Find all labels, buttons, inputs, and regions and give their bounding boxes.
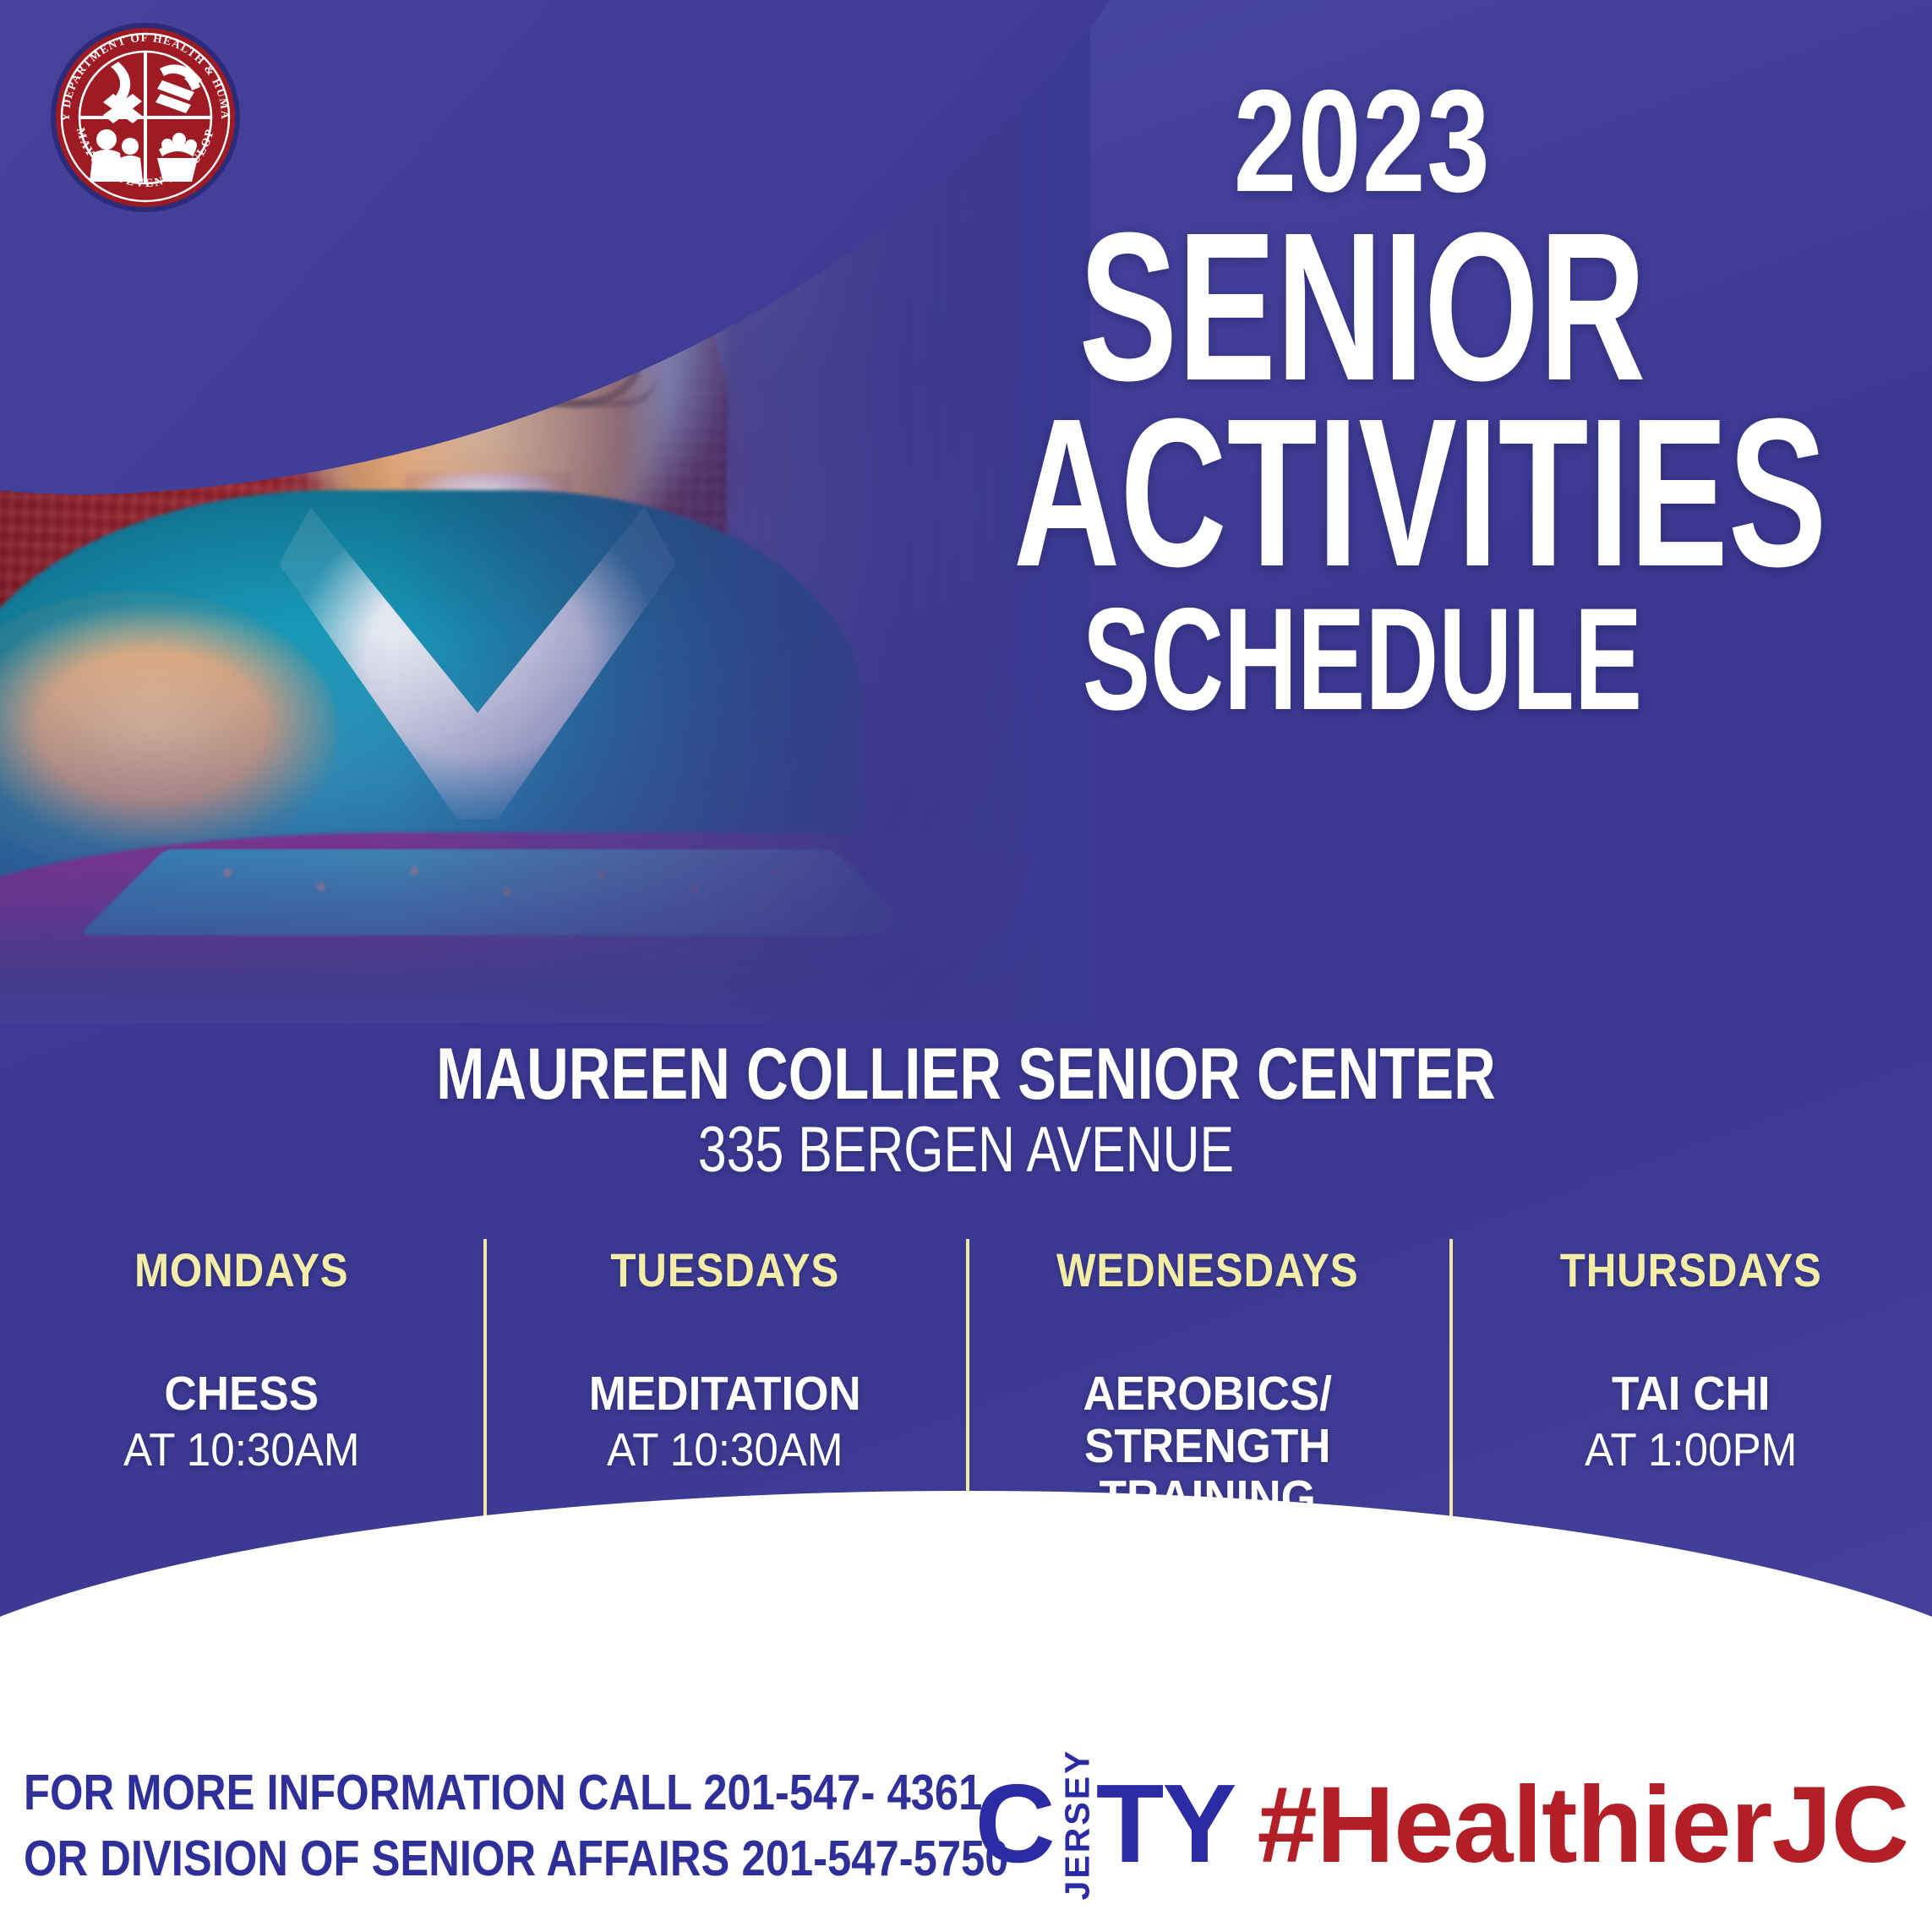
headline-block: 2023 SENIOR ACTIVITIES SCHEDULE: [864, 73, 1861, 729]
headline-line-activities: ACTIVITIES: [1013, 400, 1711, 586]
activity-item: CHESS AT 10:30AM: [15, 1368, 468, 1476]
activity-item: TAI CHI AT 1:00PM: [1465, 1368, 1918, 1476]
day-header-wednesdays: WEDNESDAYS: [1008, 1242, 1406, 1297]
activity-name: MEDITATION: [514, 1368, 935, 1421]
day-header-tuesdays: TUESDAYS: [526, 1242, 924, 1297]
headline-line-senior: SENIOR: [1013, 214, 1711, 400]
activity-name: CHESS: [31, 1368, 452, 1421]
footer-block: FOR MORE INFORMATION CALL 201-547- 4361 …: [0, 1721, 1932, 1932]
healthier-jc-hashtag: #HealthierJC: [1257, 1771, 1908, 1880]
venue-name: MAUREEN COLLIER SENIOR CENTER: [194, 1038, 1739, 1112]
logo-jersey-vertical: JERSEY: [1054, 1768, 1101, 1880]
activity-time: AT 1:00PM: [1480, 1424, 1901, 1476]
headline-line-schedule: SCHEDULE: [1013, 591, 1711, 729]
logo-jersey-text: JERSEY: [1060, 1748, 1094, 1900]
jersey-city-wordmark: C JERSEY TY: [974, 1768, 1235, 1880]
activity-time: AT 10:30AM: [514, 1424, 935, 1476]
contact-line-2: OR DIVISION OF SENIOR AFFAIRS 201-547-57…: [24, 1826, 1008, 1892]
activity-item: MEDITATION AT 10:30AM: [499, 1368, 952, 1476]
contact-info: FOR MORE INFORMATION CALL 201-547- 4361 …: [24, 1760, 1008, 1892]
logo-letters-ty: TY: [1096, 1768, 1236, 1880]
logo-letter-c: C: [974, 1768, 1053, 1880]
contact-line-1: FOR MORE INFORMATION CALL 201-547- 4361: [24, 1760, 1008, 1826]
activity-time: AT 10:30AM: [31, 1424, 452, 1476]
flyer-canvas: JERSEY CITY DEPARTMENT OF HEALTH & HUMAN…: [0, 0, 1932, 1932]
day-header-mondays: MONDAYS: [42, 1242, 440, 1297]
jersey-city-dhhs-seal: JERSEY CITY DEPARTMENT OF HEALTH & HUMAN…: [49, 21, 242, 214]
day-header-thursdays: THURSDAYS: [1492, 1242, 1890, 1297]
jersey-city-healthier-logo: C JERSEY TY #HealthierJC: [974, 1768, 1908, 1880]
venue-address: 335 BERGEN AVENUE: [194, 1116, 1739, 1185]
activity-name: TAI CHI: [1480, 1368, 1901, 1421]
venue-block: MAUREEN COLLIER SENIOR CENTER 335 BERGEN…: [0, 1038, 1932, 1185]
